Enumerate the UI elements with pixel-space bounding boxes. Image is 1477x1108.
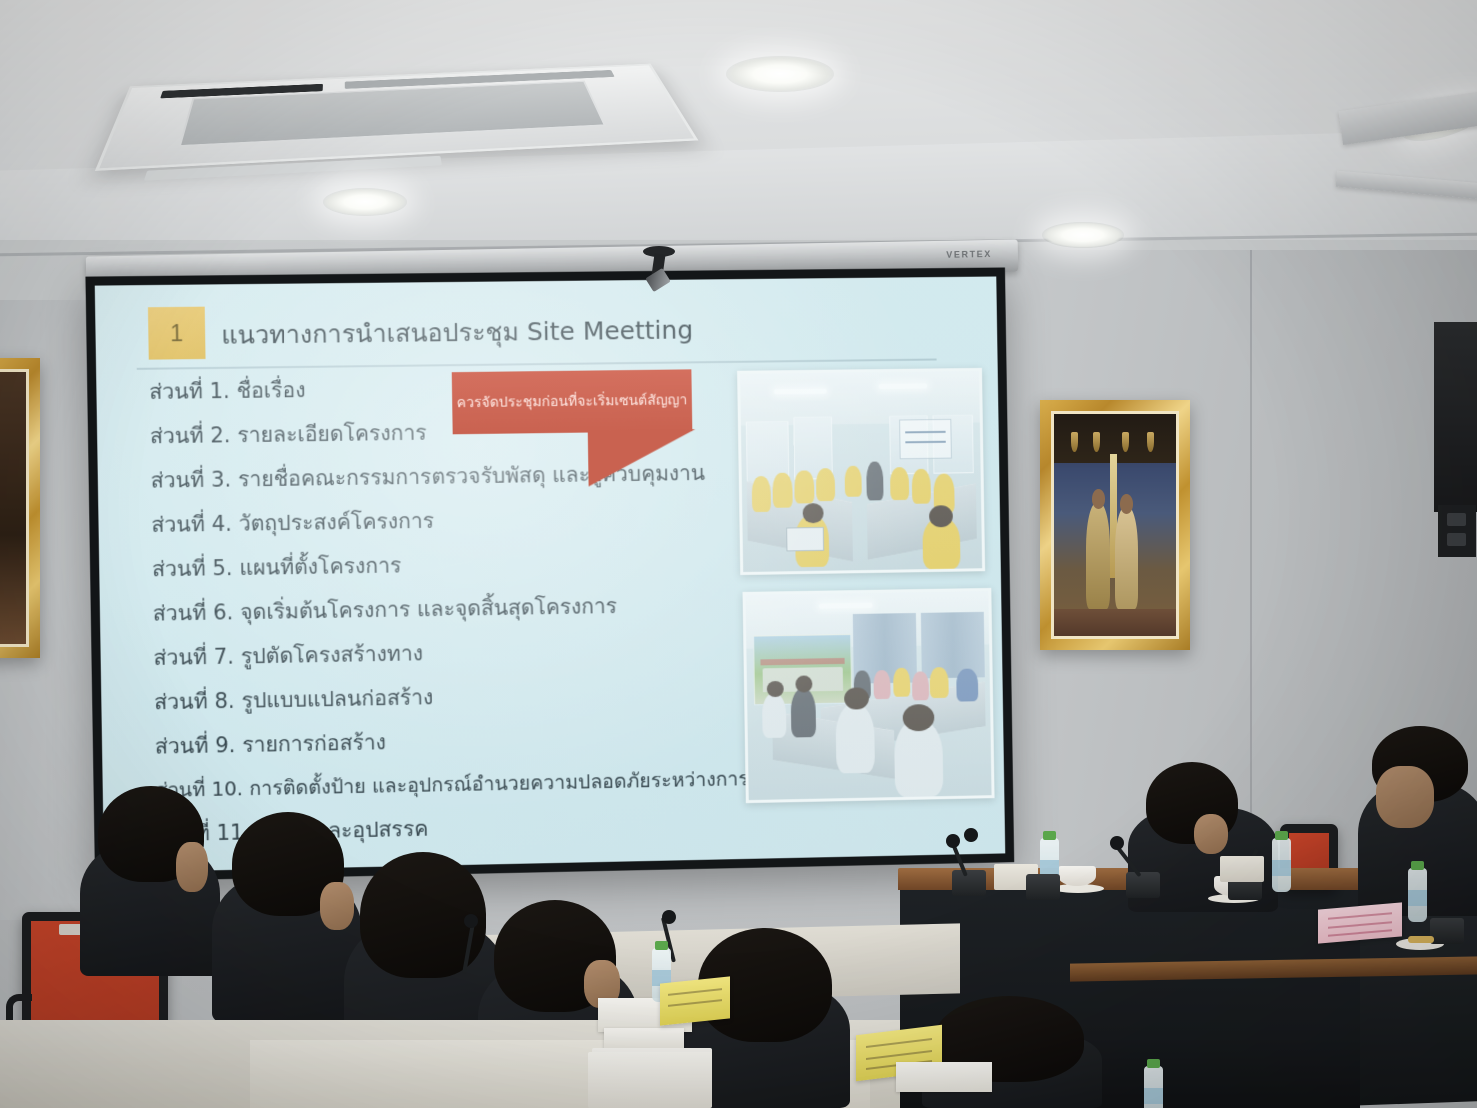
slide-header: 1 แนวทางการนำเสนอประชุม Site Meetting [148,299,968,364]
photo-person [890,467,910,501]
attendee-front-2 [212,812,362,1022]
mic-head [1110,836,1124,850]
portrait-lamp [1093,432,1100,452]
projection-screen: 1 แนวทางการนำเสนอประชุม Site Meetting ส่… [85,267,1014,881]
bottle-cap [1043,831,1056,840]
monitor-bracket [1438,505,1476,557]
name-card-line [1328,912,1392,920]
mic-base [1126,872,1160,898]
list-item: ส่วนที่ 9. รายการก่อสร้าง [155,725,777,758]
name-card-line [668,988,721,996]
documents [604,1028,684,1050]
water-bottle[interactable] [1272,838,1291,892]
list-item: ส่วนที่ 8. รูปแบบแปลนก่อสร้าง [154,681,776,713]
mic-base [1430,918,1464,944]
list-item: ส่วนที่ 4. วัตถุประสงค์โครงการ [151,506,773,536]
bottle-label [1272,860,1291,876]
photo-sign-line [905,431,945,434]
photo-person [956,669,978,702]
mic-stem [462,920,475,974]
left-wall-frame [0,358,40,658]
photo-light [774,389,827,395]
presentation-slide: 1 แนวทางการนำเสนอประชุม Site Meetting ส่… [95,276,1005,872]
slide-photo-meeting-yellow [737,368,985,575]
microphone-mid-2[interactable] [1026,866,1058,900]
portrait-floor [1054,609,1176,636]
mic-head [662,910,676,924]
spotlight-head [645,268,670,292]
attendee-face [176,842,208,892]
photo-laptop [786,527,825,551]
attendee-face [1376,766,1434,828]
bottle-cap [1147,1059,1160,1068]
portrait-figure-right [1115,507,1138,609]
photo-curtain [921,611,985,677]
attendee-face [1194,814,1228,854]
front-device [588,1052,712,1108]
photo-person [751,476,771,512]
screen-brand-label: VERTEX [946,249,992,260]
photo-person [816,468,836,502]
water-bottle[interactable] [1408,868,1427,922]
name-card-yellow [660,976,730,1025]
left-frame-canvas [0,369,29,647]
microphone-right-3[interactable] [1430,900,1464,944]
mic-head [964,828,978,842]
portrait-lamp [1071,432,1078,452]
bottle-label [1408,890,1427,906]
coffee-cup[interactable] [1058,866,1096,886]
royal-portrait-frame [1040,400,1190,650]
bracket-hole [1447,513,1466,526]
microphone-right-1[interactable] [1126,838,1160,898]
mic-head [464,914,478,928]
slide-number-badge: 1 [148,307,206,360]
ceiling-light-icon [1042,222,1124,248]
callout-tail [588,429,696,486]
list-item: ส่วนที่ 7. รูปตัดโครงสร้างทาง [153,637,775,669]
ceiling-light-icon [726,56,834,92]
callout-text: ควรจัดประชุมก่อนที่จะเริ่มเซนต์สัญญา [457,389,688,414]
bottle-label [1144,1088,1163,1104]
photo-person [773,472,793,508]
photo-person [873,670,890,699]
bottle-cap [1411,861,1424,870]
slide-callout: ควรจัดประชุมก่อนที่จะเริ่มเซนต์สัญญา [452,369,693,434]
microphone-front-3[interactable] [968,828,996,868]
tissue-box [1220,856,1264,882]
photo-person [866,461,883,501]
name-card-line [1328,929,1392,937]
photo-person [893,668,910,697]
slide-title: แนวทางการนำเสนอประชุม Site Meetting [221,310,693,355]
photo-head [766,680,783,697]
photo-person [911,468,931,504]
photo-person [912,672,929,701]
photo-sign-line [905,440,945,443]
list-item: ส่วนที่ 10. การติดตั้งป้าย และอุปกรณ์อำน… [155,769,777,801]
attendee-front-1 [80,786,220,976]
wall-monitor [1434,322,1477,512]
ceiling-light-icon [323,188,407,216]
documents [896,1062,992,1092]
conference-room-scene: VERTEX 1 แนวทางการนำเสนอประชุม Site Meet… [0,0,1477,1108]
name-card-line [866,1050,931,1060]
name-card-line [1328,921,1392,929]
spotlight-icon [648,246,670,290]
name-card-line [668,999,721,1007]
photo-banner-text [761,658,845,665]
mic-head [946,834,960,848]
mic-base [1026,874,1060,900]
photo-person [845,465,862,497]
bottle-cap [655,941,668,950]
slide-photo-meeting-banner [743,588,995,803]
portrait-head [1120,494,1133,514]
photo-wall-sign [899,419,952,459]
water-bottle[interactable] [1144,1066,1163,1108]
photo-person [835,703,875,773]
photo-person [791,688,816,738]
name-card-line [866,1038,931,1048]
list-item: ส่วนที่ 5. แผนที่ตั้งโครงการ [152,550,774,581]
portrait-canvas [1051,411,1179,639]
photo-light [879,383,927,389]
photo-person [929,667,949,698]
mic-base [952,870,986,896]
bottle-cap [1275,831,1288,840]
microphone-front-2[interactable] [450,920,480,974]
photo-person [794,470,814,504]
snack [1408,936,1434,943]
photo-person [762,693,787,739]
bracket-hole [1447,533,1466,546]
portrait-figure-left [1086,503,1110,610]
list-item: ส่วนที่ 6. จุดเริ่มต้นโครงการ และจุดสิ้น… [153,593,775,624]
portrait-lamp [1147,432,1154,452]
